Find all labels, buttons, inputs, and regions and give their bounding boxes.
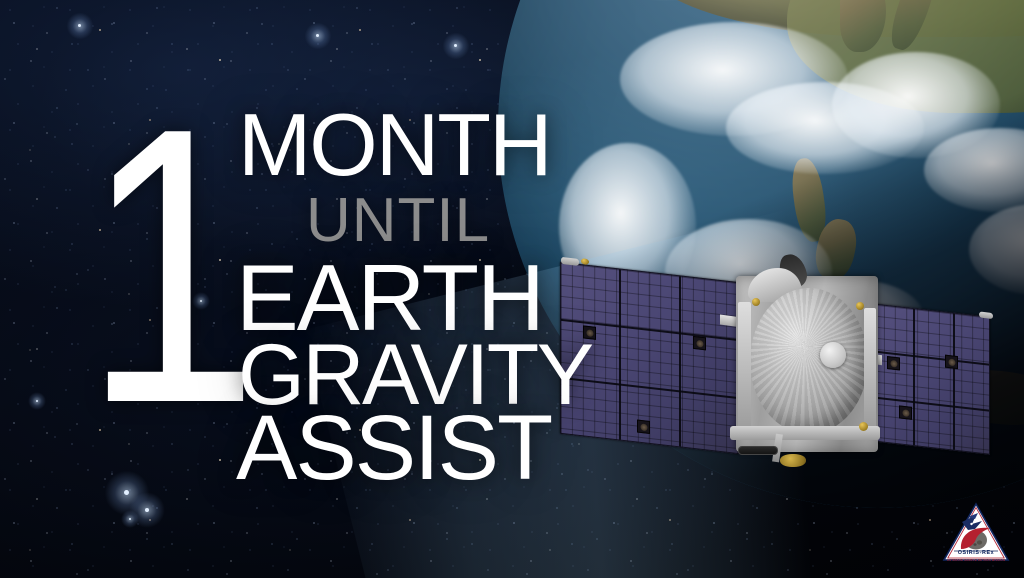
eagle-eye: [970, 523, 972, 525]
headline-line-assist: ASSIST: [236, 412, 698, 486]
osiris-rex-mission-patch: OSIRIS-REx ASTEROID SAMPLE RETURN MISSIO…: [942, 502, 1010, 564]
asteroid-crater: [977, 540, 982, 544]
patch-mission-subtitle: ASTEROID SAMPLE RETURN MISSION: [942, 558, 1010, 562]
headline-block: 1 MONTH UNTIL EARTH GRAVITY ASSIST: [0, 0, 1024, 578]
headline-line-month: MONTH: [238, 110, 698, 180]
headline-line-earth: EARTH: [236, 260, 698, 335]
headline-lines: MONTH UNTIL EARTH GRAVITY ASSIST: [238, 110, 698, 486]
headline-line-until: UNTIL: [306, 196, 698, 246]
countdown-graphic: 1 MONTH UNTIL EARTH GRAVITY ASSIST: [0, 0, 1024, 578]
patch-mission-name: OSIRIS-REx: [942, 550, 1010, 556]
countdown-number: 1: [84, 98, 247, 435]
asteroid-crater: [973, 543, 976, 546]
